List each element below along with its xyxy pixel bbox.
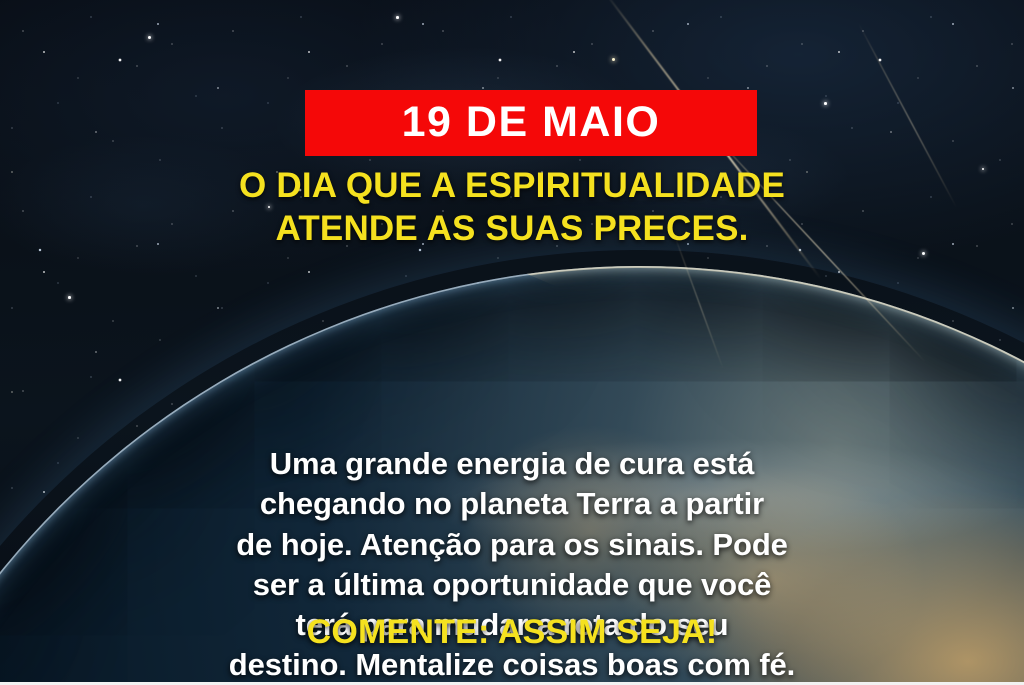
date-banner: 19 DE MAIO [305,90,757,156]
body-line-1: Uma grande energia de cura está [0,444,1024,484]
headline-line-1: O DIA QUE A ESPIRITUALIDADE [0,165,1024,208]
headline: O DIA QUE A ESPIRITUALIDADE ATENDE AS SU… [0,165,1024,250]
poster-canvas: 19 DE MAIO O DIA QUE A ESPIRITUALIDADE A… [0,0,1024,685]
body-line-6: destino. Mentalize coisas boas com fé. [0,645,1024,685]
body-line-3: de hoje. Atenção para os sinais. Pode [0,525,1024,565]
call-to-action-text: COMENTE: ASSIM SEJA! [0,615,1024,649]
headline-line-2: ATENDE AS SUAS PRECES. [0,208,1024,251]
body-line-4: ser a última oportunidade que você [0,565,1024,605]
body-line-2: chegando no planeta Terra a partir [0,484,1024,524]
date-banner-text: 19 DE MAIO [402,101,661,144]
